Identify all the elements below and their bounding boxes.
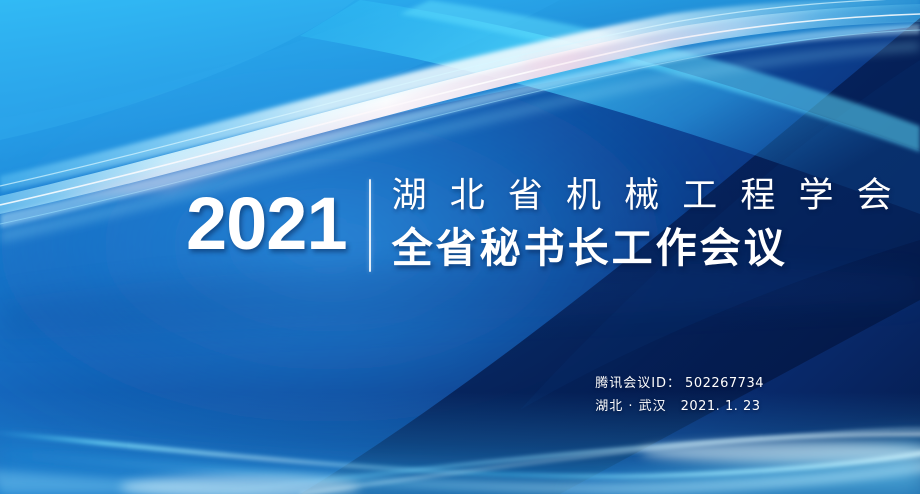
meeting-id-label: 腾讯会议ID： <box>595 376 681 391</box>
title-divider <box>369 179 371 272</box>
location-text: 湖北 · 武汉 <box>595 399 666 414</box>
year-text: 2021 <box>186 168 347 280</box>
title-lines: 湖 北 省 机 械 工 程 学 会 全省秘书长工作会议 <box>392 168 898 280</box>
slide-title-block: 2021 湖 北 省 机 械 工 程 学 会 全省秘书长工作会议 <box>186 168 898 280</box>
location-date-row: 湖北 · 武汉2021. 1. 23 <box>595 395 764 418</box>
meeting-id-value: 502267734 <box>685 376 764 391</box>
date-text: 2021. 1. 23 <box>681 399 761 414</box>
organization-name: 湖 北 省 机 械 工 程 学 会 <box>392 173 898 219</box>
meeting-meta: 腾讯会议ID：502267734 湖北 · 武汉2021. 1. 23 <box>595 372 764 418</box>
presentation-slide: 2021 湖 北 省 机 械 工 程 学 会 全省秘书长工作会议 腾讯会议ID：… <box>0 0 920 494</box>
event-name: 全省秘书长工作会议 <box>392 221 898 275</box>
meeting-id-row: 腾讯会议ID：502267734 <box>595 372 764 395</box>
